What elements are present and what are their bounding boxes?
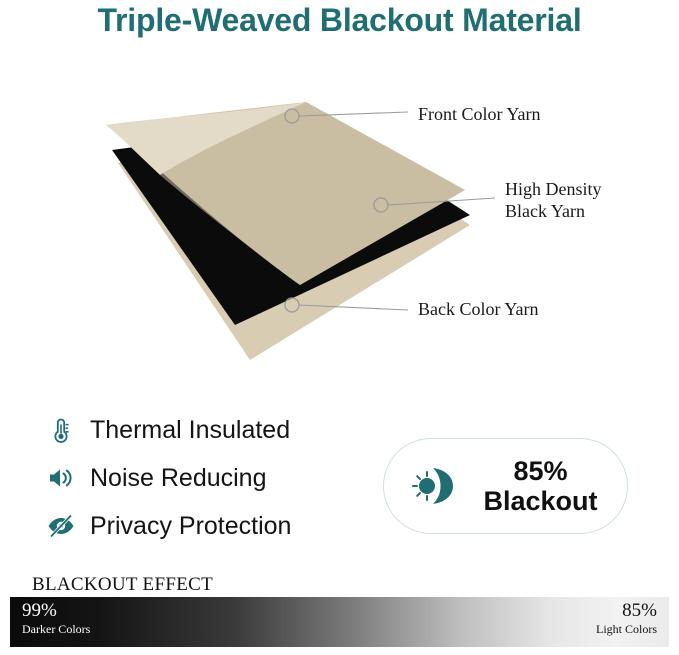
sun-behind-curtain-icon — [406, 457, 464, 515]
blackout-effect-right: 85% Light Colors — [596, 600, 657, 636]
blackout-effect-right-percent: 85% — [596, 600, 657, 622]
feature-privacy-protection: Privacy Protection — [44, 504, 374, 548]
blackout-effect-gradient-bar — [10, 597, 669, 647]
label-back-color-yarn: Back Color Yarn — [418, 298, 539, 320]
page-title: Triple-Weaved Blackout Material — [0, 2, 679, 39]
label-front-color-yarn: Front Color Yarn — [418, 103, 541, 125]
feature-noise-reducing: Noise Reducing — [44, 456, 374, 500]
blackout-effect-left: 99% Darker Colors — [22, 600, 90, 636]
feature-label-privacy-protection: Privacy Protection — [90, 512, 291, 541]
infographic-page: Triple-Weaved Blackout Material Front Co… — [0, 0, 679, 655]
feature-thermal-insulated: Thermal Insulated — [44, 408, 374, 452]
feature-list: Thermal Insulated Noise Reducing — [44, 408, 374, 552]
blackout-badge: 85% Blackout — [383, 438, 628, 534]
speaker-mute-icon — [44, 461, 78, 495]
blackout-badge-text: 85% Blackout — [470, 456, 627, 516]
blackout-effect-right-label: Light Colors — [596, 622, 657, 636]
blackout-effect-title: BLACKOUT EFFECT — [32, 574, 213, 596]
blackout-word: Blackout — [470, 486, 611, 516]
blackout-effect-left-label: Darker Colors — [22, 622, 90, 636]
eye-slash-icon — [44, 509, 78, 543]
label-high-density-black-yarn: High Density Black Yarn — [505, 178, 602, 222]
fabric-layers-diagram: Front Color Yarn High Density Black Yarn… — [0, 70, 679, 360]
blackout-effect-left-percent: 99% — [22, 600, 90, 622]
feature-label-noise-reducing: Noise Reducing — [90, 464, 267, 493]
feature-label-thermal-insulated: Thermal Insulated — [90, 416, 290, 445]
thermometer-icon — [44, 413, 78, 447]
blackout-percent: 85% — [470, 456, 611, 486]
